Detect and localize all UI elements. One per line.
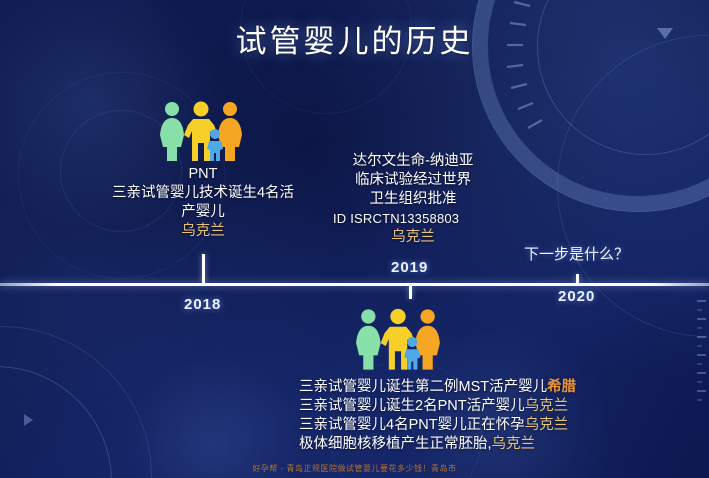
event-line: 三亲试管婴儿4名PNT婴儿正在怀孕乌克兰 [299, 416, 576, 435]
timeline-axis [0, 283, 709, 286]
event-line-text: 三亲试管婴儿诞生2名PNT活产婴儿 [299, 398, 525, 414]
event-line: PNT [84, 165, 322, 184]
slide-canvas: 试管婴儿的历史 PNT 三亲试管婴儿技术诞生4名活 产婴儿 乌克兰 达尔文 [0, 0, 709, 478]
event-country-label: 乌克兰 [333, 228, 493, 247]
event-line: 达尔文生命-纳迪亚 [333, 152, 493, 171]
event-line: 临床试验经过世界 [333, 171, 493, 190]
event-country-label: 乌克兰 [525, 417, 569, 433]
background-pointer-bottomleft-icon [24, 414, 33, 426]
event-line: 三亲试管婴儿诞生2名PNT活产婴儿乌克兰 [299, 397, 576, 416]
watermark: 好孕帮 - 青岛正规医院做试管婴儿要花多少钱！青岛市 [0, 462, 709, 475]
event-line-text: 三亲试管婴儿诞生第二例MST活产婴儿 [299, 379, 547, 395]
event-line: 极体细胞核移植产生正常胚胎,乌克兰 [299, 435, 576, 454]
event-line: 三亲试管婴儿技术诞生4名活 [84, 184, 322, 203]
trial-id-label: ID ISRCTN13358803 [333, 209, 493, 228]
timeline-year-label: 2019 [391, 259, 428, 276]
timeline-year-label: 2018 [184, 296, 221, 313]
event-country-label: 乌克兰 [492, 436, 536, 452]
timeline-year-label: 2020 [558, 288, 595, 305]
event-line: 产婴儿 [84, 203, 322, 222]
woman-orange-icon [415, 309, 440, 369]
event-line-text: 极体细胞核移植产生正常胚胎, [299, 436, 492, 452]
page-title: 试管婴儿的历史 [0, 16, 709, 61]
event-country-label: 希腊 [547, 379, 576, 395]
timeline-tick-2020 [576, 274, 579, 284]
event-country-label: 乌克兰 [525, 398, 569, 414]
family-group-icon-2019 [352, 308, 444, 372]
event-block-2019-bottom: 三亲试管婴儿诞生第二例MST活产婴儿希腊 三亲试管婴儿诞生2名PNT活产婴儿乌克… [299, 378, 576, 454]
woman-green-icon [160, 102, 184, 161]
event-block-2019-top: 达尔文生命-纳迪亚 临床试验经过世界 卫生组织批准 ID ISRCTN13358… [333, 152, 493, 247]
woman-green-icon [356, 309, 381, 369]
event-line-text: 三亲试管婴儿4名PNT婴儿正在怀孕 [299, 417, 525, 433]
event-line: 卫生组织批准 [333, 190, 493, 209]
event-block-2018: PNT 三亲试管婴儿技术诞生4名活 产婴儿 乌克兰 [84, 165, 322, 241]
woman-orange-icon [218, 102, 242, 161]
family-group-icon-2018 [156, 101, 246, 163]
event-country-label: 乌克兰 [84, 222, 322, 241]
watermark-text: 好孕帮 - 青岛正规医院做试管婴儿要花多少钱！青岛市 [246, 462, 462, 475]
timeline-tick-2018 [202, 254, 205, 284]
next-step-question: 下一步是什么？ [524, 243, 629, 264]
timeline-tick-2019 [409, 285, 412, 299]
event-line: 三亲试管婴儿诞生第二例MST活产婴儿希腊 [299, 378, 576, 397]
background-arc-bottomleft-outer [0, 326, 152, 478]
background-tick-strip-right [697, 300, 707, 450]
